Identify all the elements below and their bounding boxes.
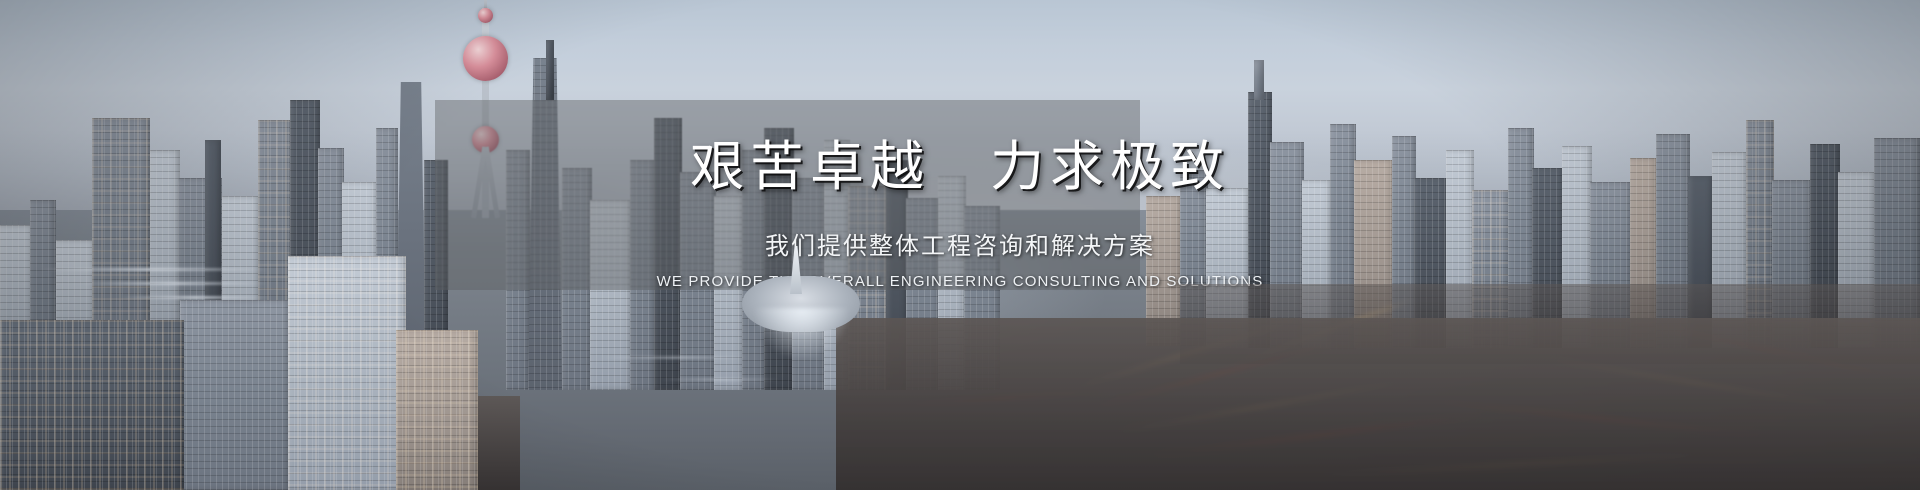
water-light-streak (600, 356, 750, 359)
water-light-streak (40, 268, 270, 271)
caption-overlay-panel (435, 100, 1140, 290)
water-light-streak (120, 296, 270, 299)
water-light-streak (78, 282, 268, 285)
water-light-streak (660, 378, 780, 381)
hero-banner: 艰苦卓越 力求极致 我们提供整体工程咨询和解决方案 WE PROVIDE THE… (0, 0, 1920, 490)
monument-glow (754, 308, 850, 360)
